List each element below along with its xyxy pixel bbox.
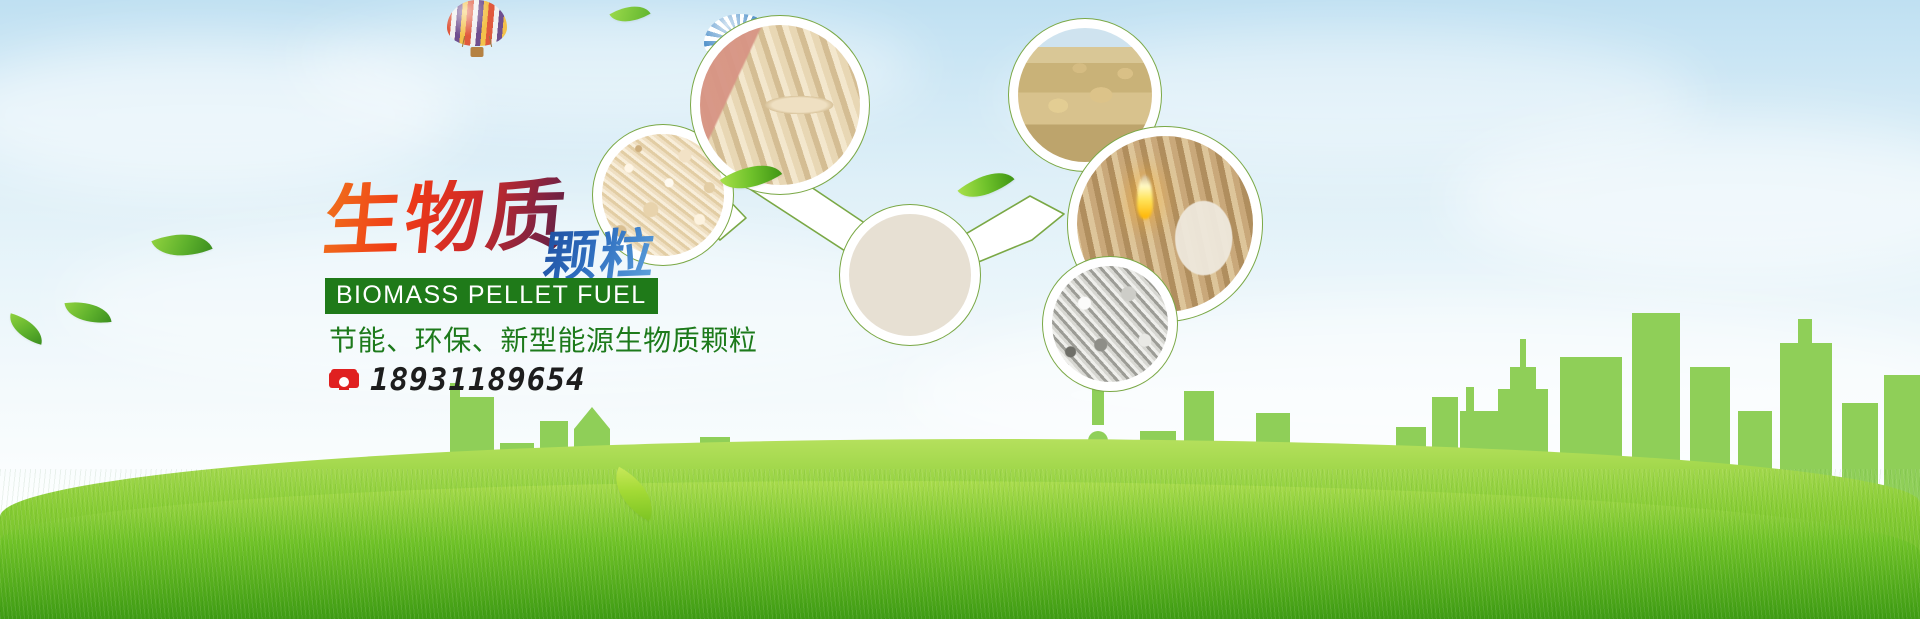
grey-ash-photo — [1052, 266, 1168, 382]
english-badge: BIOMASS PELLET FUEL — [325, 278, 658, 314]
wood-shavings-photo — [849, 214, 971, 336]
cloud-haze — [0, 40, 460, 190]
floating-leaf-icon — [151, 221, 212, 269]
telephone-icon — [328, 368, 360, 392]
balloon-envelope — [447, 0, 507, 46]
headline-chinese-main: 生物质 — [320, 177, 572, 261]
pellets-in-hand-photo — [700, 25, 860, 185]
headline-chinese-sub: 颗粒 — [540, 226, 660, 284]
phone-row: 18931189654 — [328, 362, 586, 398]
hot-air-balloon-left-icon — [447, 0, 507, 56]
cloud-haze — [1450, 120, 1920, 280]
biomass-pellet-fuel-banner: 生物质 颗粒 BIOMASS PELLET FUEL 节能、环保、新型能源生物质… — [0, 0, 1920, 619]
phone-number: 18931189654 — [370, 362, 586, 398]
subtitle-chinese: 节能、环保、新型能源生物质颗粒 — [329, 319, 757, 359]
balloon-basket — [471, 47, 484, 57]
